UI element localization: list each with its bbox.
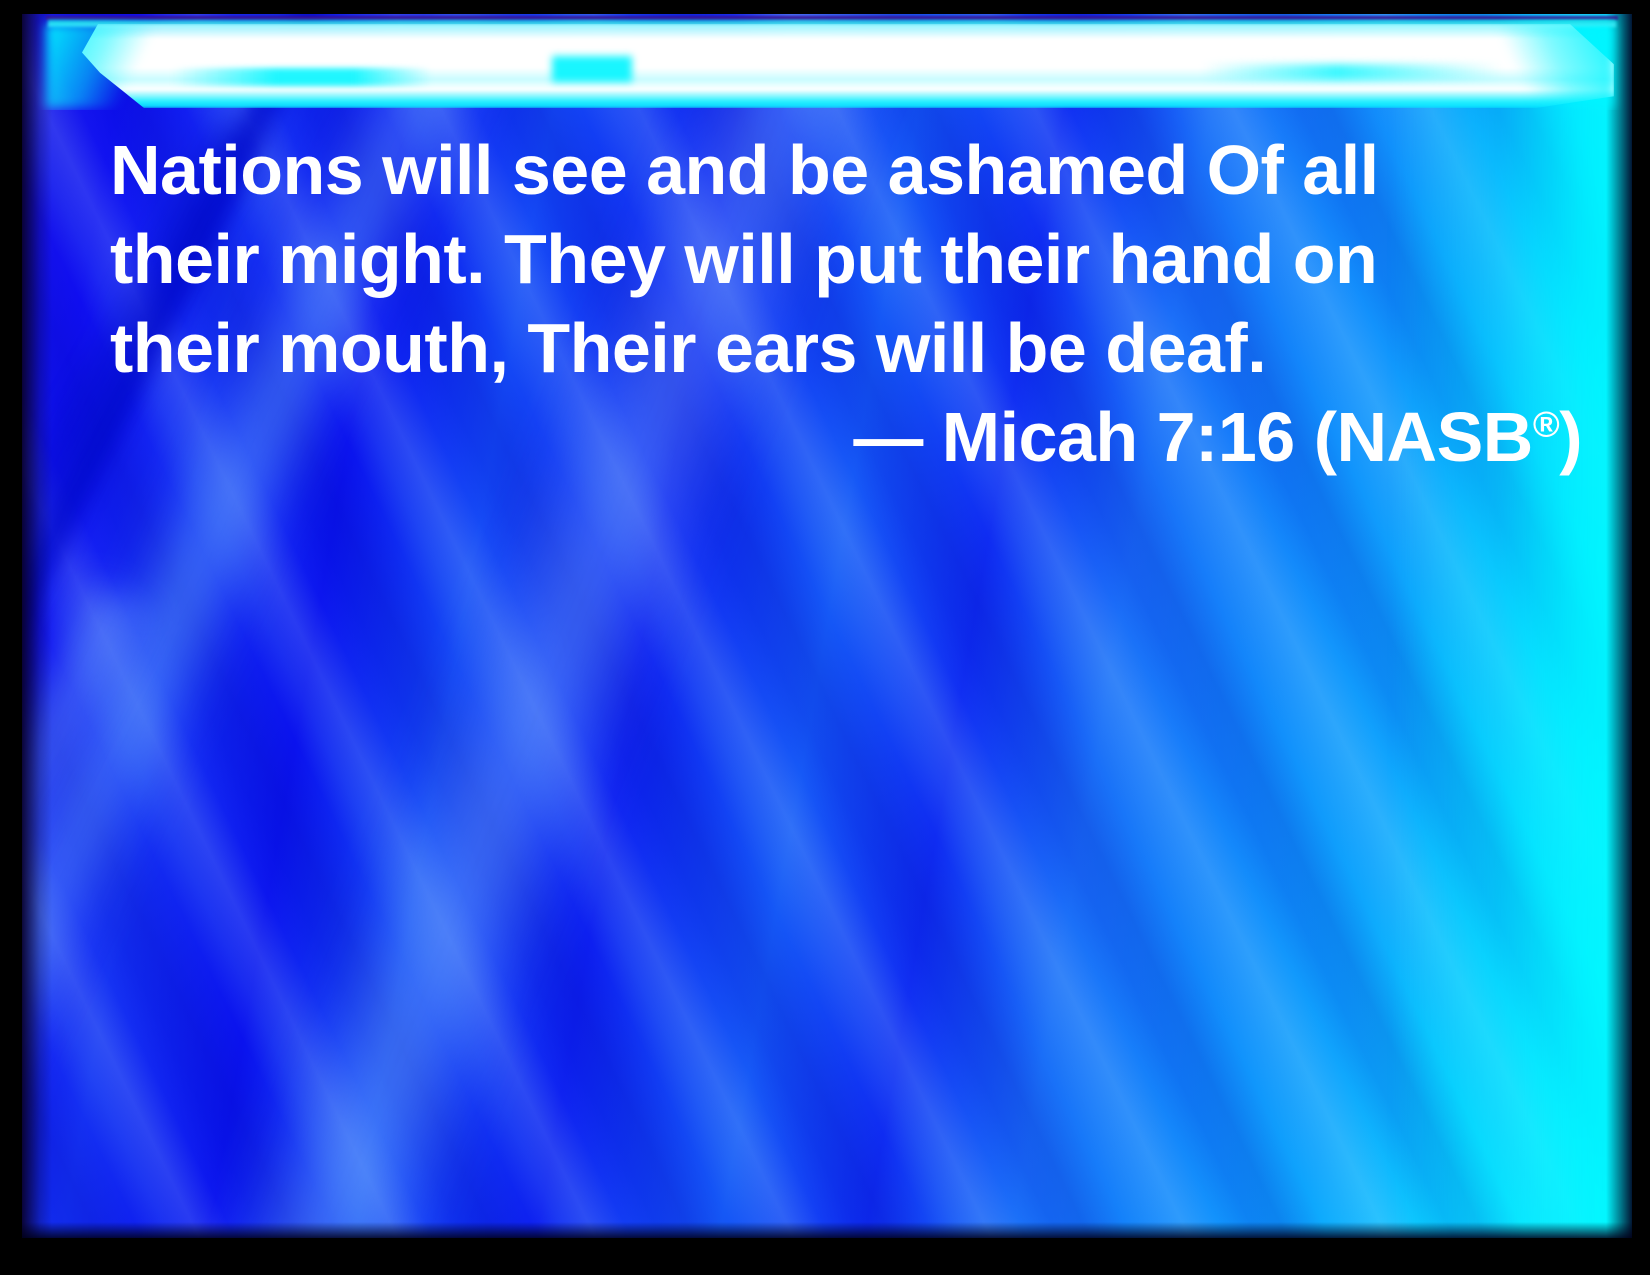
band-cyan-streak-1 — [172, 68, 432, 86]
citation-reference: Micah 7:16 — [942, 398, 1295, 476]
left-edge-shadow — [22, 14, 52, 1238]
verse-slide: Nations will see and be ashamed Of all t… — [0, 0, 1650, 1275]
verse-text-block: Nations will see and be ashamed Of all t… — [110, 126, 1588, 482]
right-edge-shadow — [1606, 14, 1632, 1238]
verse-citation: — Micah 7:16 (NASB®) — [110, 393, 1588, 482]
bottom-edge-shadow — [22, 1222, 1632, 1238]
citation-dash: — — [853, 398, 923, 476]
verse-line-3: their mouth, Their ears will be deaf. — [110, 304, 1588, 393]
header-glow-band — [22, 14, 1632, 110]
band-cyan-left-wing — [46, 24, 156, 108]
citation-close-paren: ) — [1559, 398, 1582, 476]
citation-open-paren: ( — [1314, 398, 1337, 476]
citation-translation: NASB — [1337, 398, 1533, 476]
registered-trademark-icon: ® — [1533, 404, 1559, 445]
verse-line-1: Nations will see and be ashamed Of all — [110, 126, 1588, 215]
slide-canvas: Nations will see and be ashamed Of all t… — [22, 14, 1632, 1238]
band-cyan-streak-2 — [552, 56, 632, 82]
band-cyan-streak-3 — [1202, 64, 1502, 80]
band-cyan-right-wing — [1494, 24, 1614, 108]
verse-line-2: their might. They will put their hand on — [110, 215, 1588, 304]
